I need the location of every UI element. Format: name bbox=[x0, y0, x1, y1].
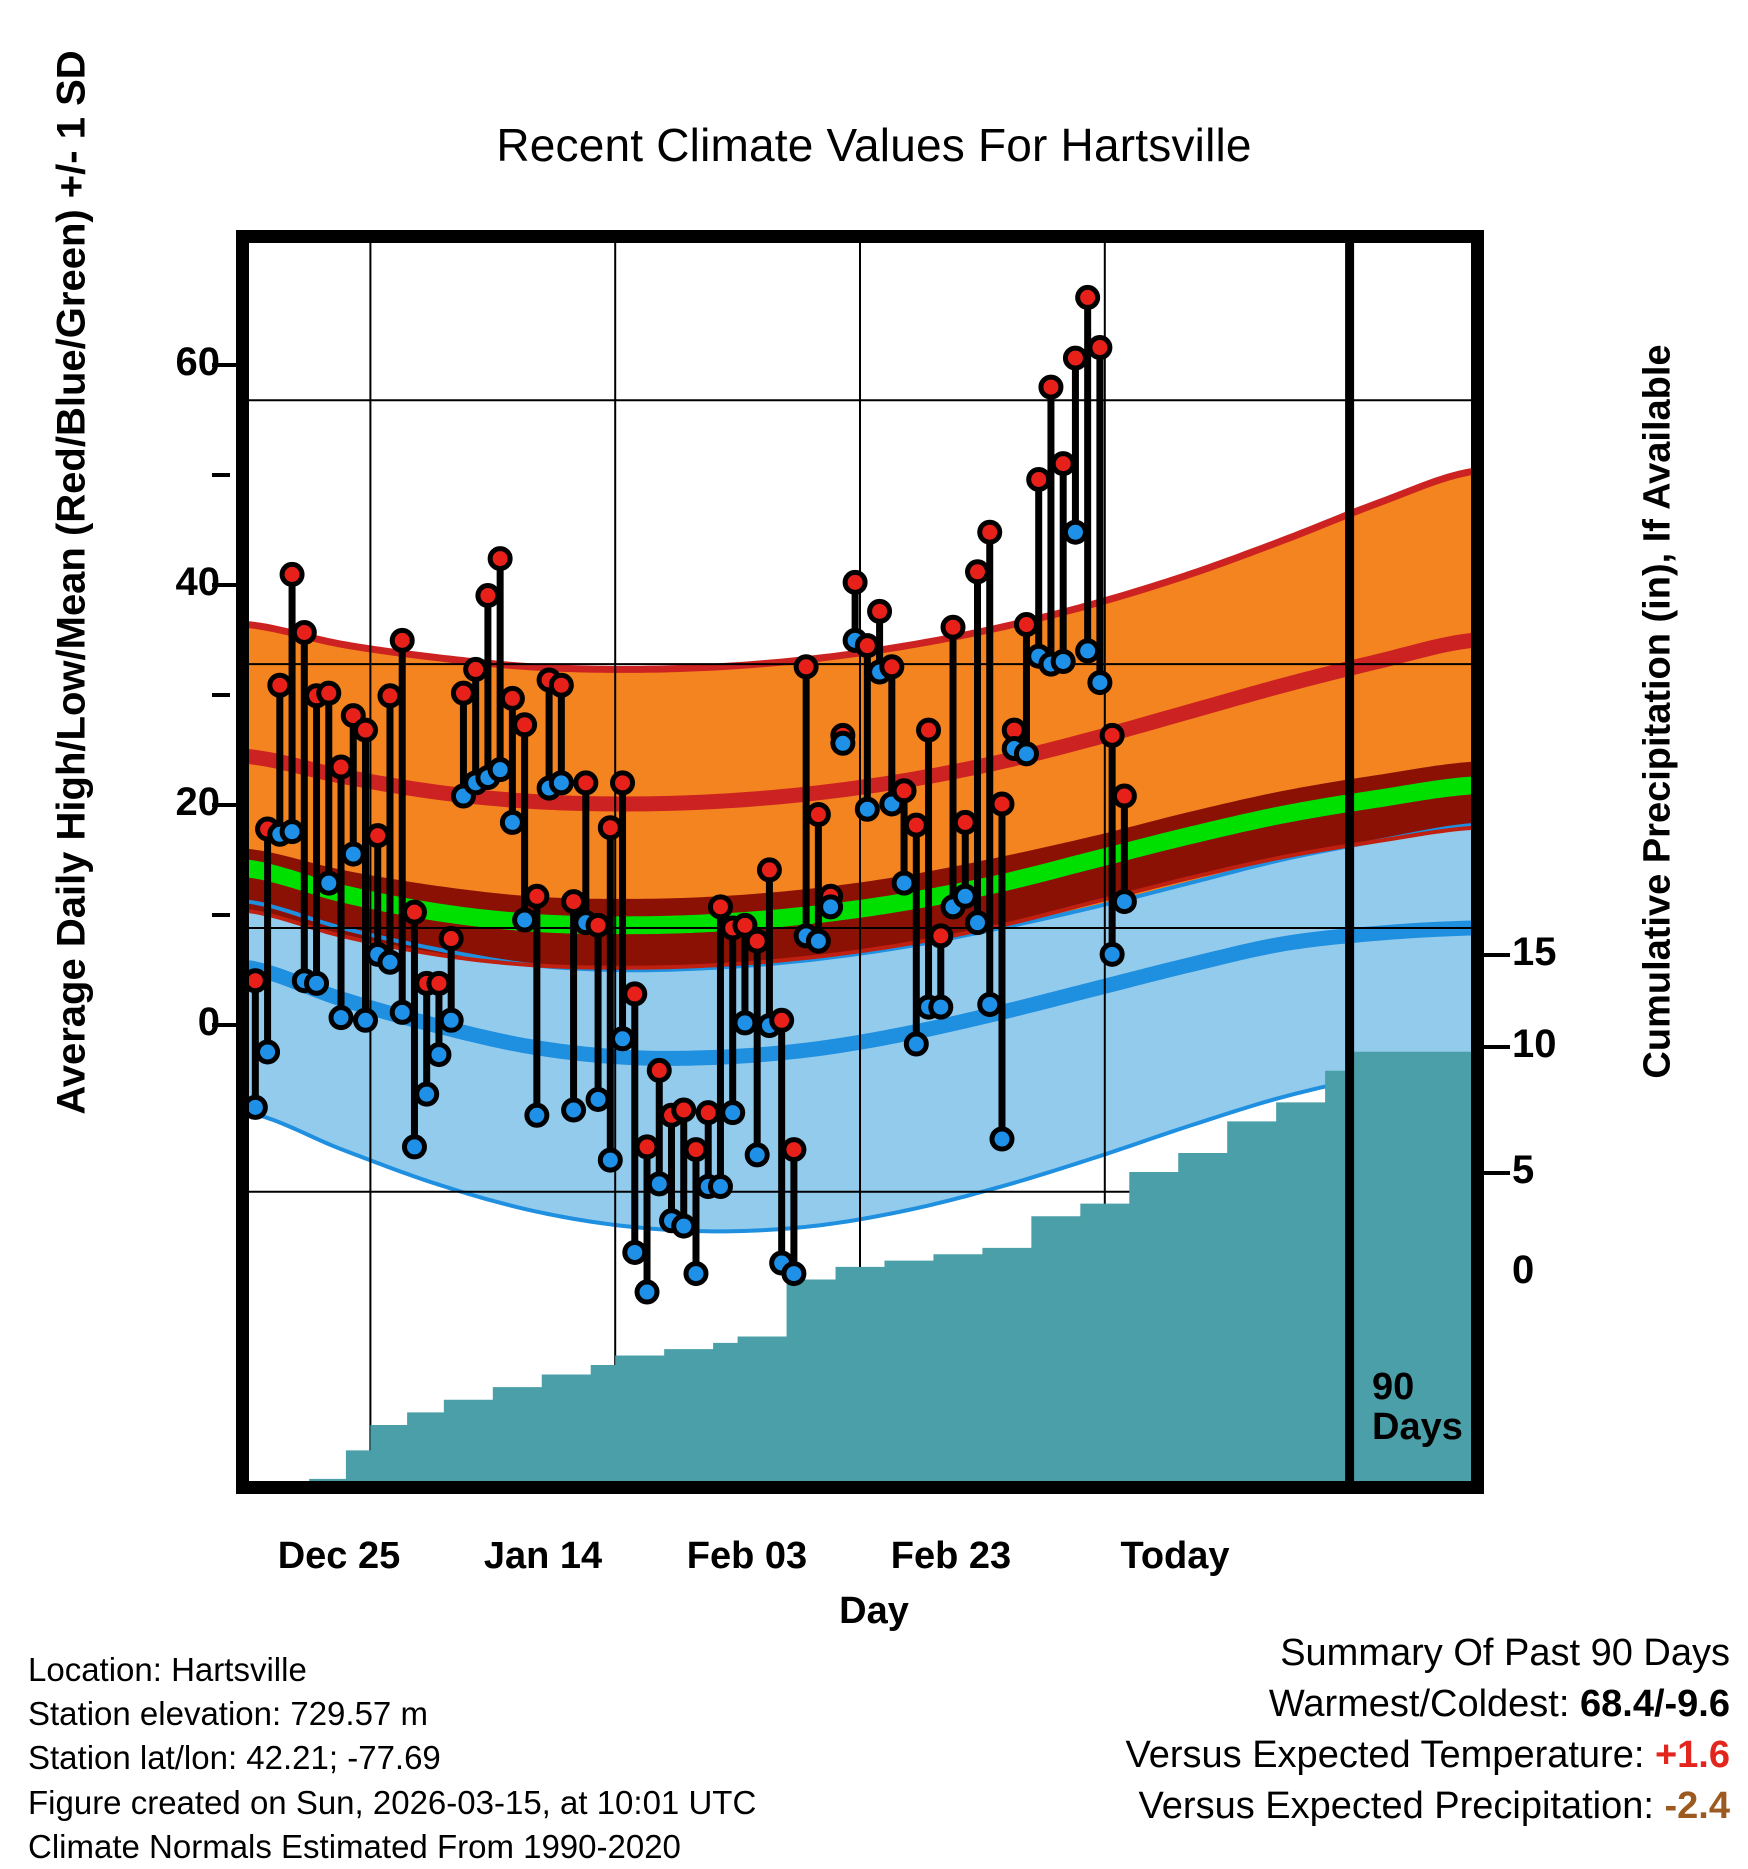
y-tick-right-mark-15 bbox=[1484, 953, 1510, 957]
y-tick-mark-20 bbox=[212, 803, 238, 807]
summary-value-warmest-coldest: 68.4/-9.6 bbox=[1580, 1683, 1730, 1725]
y-axis-left-title: Average Daily High/Low/Mean (Red/Blue/Gr… bbox=[50, 33, 95, 1133]
footer-created: Figure created on Sun, 2026-03-15, at 10… bbox=[28, 1781, 756, 1825]
chart-title: Recent Climate Values For Hartsville bbox=[0, 118, 1748, 172]
summary-value-precipitation: -2.4 bbox=[1665, 1785, 1730, 1827]
footer-metadata: Location: Hartsville Station elevation: … bbox=[28, 1648, 756, 1869]
x-axis-title: Day bbox=[0, 1590, 1748, 1633]
y-tick-left-0: 0 bbox=[100, 1000, 220, 1045]
y-tick-left-40: 40 bbox=[100, 560, 220, 605]
summary-heading: Summary Of Past 90 Days bbox=[1125, 1628, 1730, 1679]
summary-row-precipitation: Versus Expected Precipitation: -2.4 bbox=[1125, 1781, 1730, 1832]
ninety-days-annotation: 90 Days bbox=[1372, 1368, 1463, 1448]
y-tick-mark-0 bbox=[212, 1023, 238, 1027]
climate-plot-svg bbox=[248, 242, 1472, 1482]
y-tick-mark-30 bbox=[212, 693, 230, 697]
ninety-days-line1: 90 bbox=[1372, 1368, 1463, 1408]
summary-label-warmest-coldest: Warmest/Coldest: bbox=[1269, 1683, 1570, 1725]
y-tick-left-20: 20 bbox=[100, 780, 220, 825]
y-axis-right-title: Cumulative Precipitation (in), If Availa… bbox=[1637, 162, 1680, 1262]
summary-row-warmest-coldest: Warmest/Coldest: 68.4/-9.6 bbox=[1125, 1679, 1730, 1730]
y-tick-right-5: 5 bbox=[1512, 1148, 1632, 1193]
y-tick-right-10: 10 bbox=[1512, 1022, 1632, 1067]
y-tick-mark-60 bbox=[212, 363, 238, 367]
y-tick-right-mark-10 bbox=[1484, 1045, 1510, 1049]
ninety-days-line2: Days bbox=[1372, 1408, 1463, 1448]
y-tick-mark-50 bbox=[212, 473, 230, 477]
footer-normals: Climate Normals Estimated From 1990-2020 bbox=[28, 1825, 756, 1869]
x-tick-today: Today bbox=[1055, 1535, 1295, 1578]
y-tick-mark-10 bbox=[212, 913, 230, 917]
summary-panel: Summary Of Past 90 Days Warmest/Coldest:… bbox=[1125, 1628, 1730, 1832]
y-tick-left-60: 60 bbox=[100, 340, 220, 385]
summary-label-temperature: Versus Expected Temperature: bbox=[1125, 1734, 1644, 1776]
y-tick-right-15: 15 bbox=[1512, 930, 1632, 975]
summary-label-precipitation: Versus Expected Precipitation: bbox=[1139, 1785, 1654, 1827]
x-tick-feb-23: Feb 23 bbox=[831, 1535, 1071, 1578]
y-tick-right-mark-5 bbox=[1484, 1171, 1510, 1175]
footer-latlon: Station lat/lon: 42.21; -77.69 bbox=[28, 1736, 756, 1780]
summary-row-temperature: Versus Expected Temperature: +1.6 bbox=[1125, 1730, 1730, 1781]
summary-value-temperature: +1.6 bbox=[1655, 1734, 1730, 1776]
y-tick-mark-40 bbox=[212, 583, 238, 587]
footer-elevation: Station elevation: 729.57 m bbox=[28, 1692, 756, 1736]
y-tick-right-0: 0 bbox=[1512, 1248, 1632, 1293]
footer-location: Location: Hartsville bbox=[28, 1648, 756, 1692]
plot-area[interactable] bbox=[248, 242, 1472, 1482]
